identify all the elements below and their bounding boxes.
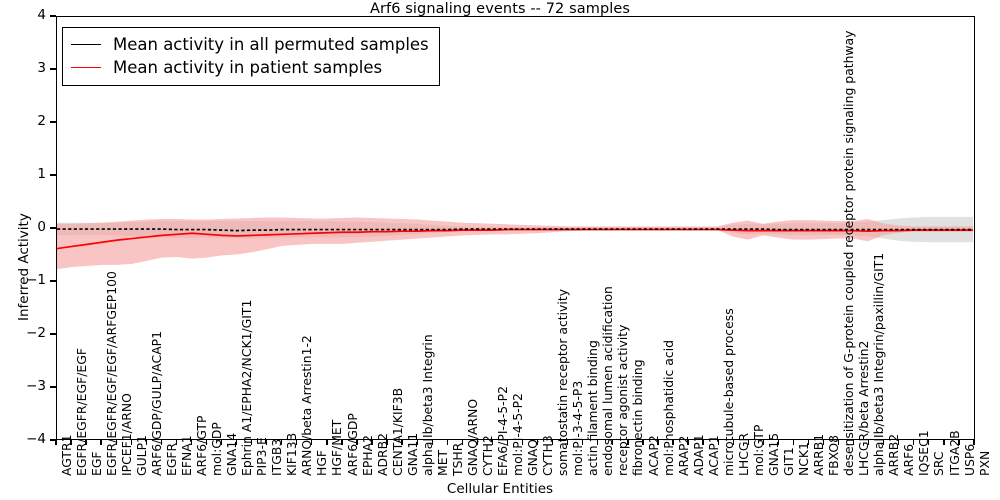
x-tick-mark — [793, 440, 794, 445]
x-tick-label: NCK1 — [798, 442, 810, 476]
legend-label-patient: Mean activity in patient samples — [113, 58, 382, 77]
x-tick-label: fibronectin binding — [632, 359, 644, 476]
x-tick-mark — [597, 440, 598, 445]
legend-label-permuted: Mean activity in all permuted samples — [113, 35, 429, 54]
x-tick-mark — [477, 440, 478, 445]
x-tick-mark — [913, 440, 914, 445]
x-tick-label: mol:GTP — [753, 425, 765, 476]
x-tick-label: MET — [437, 450, 449, 476]
x-tick-mark — [462, 440, 463, 445]
x-tick-mark — [748, 440, 749, 445]
x-tick-mark — [161, 440, 162, 445]
x-tick-label: Ephrin A1/EPHA2/NCK1/GIT1 — [241, 300, 253, 476]
x-tick-mark — [55, 440, 56, 445]
x-tick-mark — [176, 440, 177, 445]
x-tick-mark — [973, 440, 974, 445]
x-tick-mark — [763, 440, 764, 445]
x-tick-mark — [432, 440, 433, 445]
x-tick-label: USP6 — [964, 444, 976, 476]
legend-item-patient: Mean activity in patient samples — [71, 56, 429, 79]
x-tick-mark — [296, 440, 297, 445]
x-tick-label: ARF6/GDP/GULP/ACAP1 — [151, 331, 163, 476]
x-tick-mark — [100, 440, 101, 445]
x-tick-label: endosomal lumen acidification — [602, 286, 614, 476]
x-tick-mark — [251, 440, 252, 445]
x-tick-mark — [447, 440, 448, 445]
x-tick-mark — [221, 440, 222, 445]
x-tick-mark — [146, 440, 147, 445]
x-tick-mark — [326, 440, 327, 445]
x-tick-label: ITGA2B — [949, 430, 961, 476]
x-tick-mark — [642, 440, 643, 445]
x-tick-mark — [537, 440, 538, 445]
x-tick-mark — [492, 440, 493, 445]
x-tick-label: desensitization of G-protein coupled rec… — [843, 31, 855, 477]
x-tick-label: mol:Phosphatidic acid — [663, 340, 675, 476]
x-tick-mark — [371, 440, 372, 445]
x-tick-label: EFA6/PI-4-5-P2 — [497, 386, 509, 476]
x-tick-mark — [401, 440, 402, 445]
x-tick-mark — [417, 440, 418, 445]
legend: Mean activity in all permuted samples Me… — [62, 27, 440, 86]
x-tick-label: TSHR — [452, 443, 464, 476]
legend-item-permuted: Mean activity in all permuted samples — [71, 33, 429, 56]
x-tick-label: ARF6 — [903, 444, 915, 476]
x-tick-label: receptor agonist activity — [617, 325, 629, 476]
x-tick-mark — [567, 440, 568, 445]
x-tick-mark — [341, 440, 342, 445]
x-tick-mark — [883, 440, 884, 445]
x-tick-mark — [808, 440, 809, 445]
x-tick-label: microtubule-based process — [723, 308, 735, 476]
x-tick-mark — [898, 440, 899, 445]
x-tick-label: mol:PI-4-5-P2 — [512, 393, 524, 476]
x-tick-label: GIT1 — [783, 447, 795, 476]
x-tick-mark — [733, 440, 734, 445]
x-tick-mark — [386, 440, 387, 445]
x-tick-mark — [236, 440, 237, 445]
x-tick-label: actin filament binding — [587, 340, 599, 476]
x-tick-label: IQSEC1 — [918, 430, 930, 476]
x-axis-label: Cellular Entities — [0, 481, 1000, 497]
x-tick-mark — [778, 440, 779, 445]
x-tick-mark — [943, 440, 944, 445]
x-tick-mark — [627, 440, 628, 445]
x-tick-label: alphaIIb/beta3 Integrin — [422, 334, 434, 476]
x-tick-label: PXN — [979, 451, 991, 476]
x-tick-mark — [356, 440, 357, 445]
x-tick-mark — [838, 440, 839, 445]
x-tick-label: mol:GDP — [211, 422, 223, 476]
x-tick-mark — [853, 440, 854, 445]
x-tick-mark — [70, 440, 71, 445]
x-tick-mark — [552, 440, 553, 445]
x-tick-label: somatostatin receptor activity — [557, 289, 569, 476]
x-tick-mark — [657, 440, 658, 445]
legend-swatch-permuted — [71, 44, 101, 45]
x-tick-label: EGFR/EGFR/EGF/EGF — [76, 348, 88, 476]
x-tick-mark — [612, 440, 613, 445]
x-tick-mark — [582, 440, 583, 445]
x-tick-mark — [868, 440, 869, 445]
x-tick-label: SRC — [933, 451, 945, 476]
x-tick-label: HGF/MET — [331, 420, 343, 476]
x-tick-mark — [281, 440, 282, 445]
x-tick-mark — [958, 440, 959, 445]
x-tick-label: EGFR/EGFR/EGF/EGF/ARFGEP100 — [106, 271, 118, 476]
x-tick-label: mol:PI-3-4-5-P3 — [572, 381, 584, 476]
x-tick-mark — [116, 440, 117, 445]
x-tick-mark — [928, 440, 929, 445]
x-tick-mark — [823, 440, 824, 445]
x-tick-label: ARNO/beta Arrestin1-2 — [301, 335, 313, 476]
x-tick-label: CENTA1/KIF3B — [392, 388, 404, 476]
chart-root: Arf6 signaling events -- 72 samples −4−3… — [0, 0, 1000, 500]
x-tick-mark — [85, 440, 86, 445]
x-tick-mark — [687, 440, 688, 445]
x-tick-mark — [206, 440, 207, 445]
x-tick-mark — [266, 440, 267, 445]
x-tick-label: IPCEF1/ARNO — [121, 393, 133, 476]
x-tick-mark — [672, 440, 673, 445]
x-tick-mark — [131, 440, 132, 445]
x-tick-label: EGFR — [166, 443, 178, 476]
x-tick-mark — [191, 440, 192, 445]
x-tick-label: GNAQ/ARNO — [467, 399, 479, 476]
x-tick-mark — [507, 440, 508, 445]
x-tick-label: ARF6/GTP — [196, 416, 208, 476]
x-tick-mark — [522, 440, 523, 445]
x-tick-label: EGF — [91, 451, 103, 476]
x-tick-label: HGF — [316, 450, 328, 476]
legend-swatch-patient — [71, 67, 101, 68]
x-tick-label: LHCGR/beta Arrestin2 — [858, 341, 870, 476]
x-tick-mark — [718, 440, 719, 445]
x-tick-mark — [311, 440, 312, 445]
x-tick-mark — [702, 440, 703, 445]
